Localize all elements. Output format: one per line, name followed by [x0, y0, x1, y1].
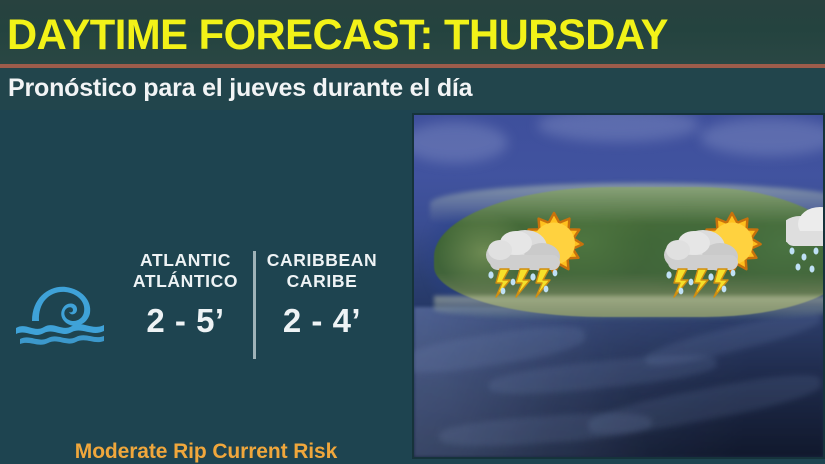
- sun-behind-cloud-thunderstorm-icon: [654, 203, 764, 301]
- marine-column-atlantic: ATLANTIC ATLÁNTICO 2 - 5’: [118, 250, 253, 340]
- page-subtitle: Pronóstico para el jueves durante el día: [8, 74, 472, 103]
- marine-label-es: ATLÁNTICO: [118, 271, 253, 292]
- map-cloud-wisp: [700, 118, 825, 156]
- marine-label-en: ATLANTIC: [118, 250, 253, 271]
- map-canvas: [414, 115, 823, 457]
- marine-conditions-panel: ATLANTIC ATLÁNTICO 2 - 5’ CARIBBEAN CARI…: [0, 110, 412, 464]
- marine-label-es: CARIBE: [256, 271, 388, 292]
- marine-wave-height: 2 - 5’: [118, 302, 253, 340]
- rip-current-risk: Moderate Rip Current Risk Riesgo Moderad…: [0, 440, 412, 464]
- marine-wave-height: 2 - 4’: [256, 302, 388, 340]
- raindrops: [790, 248, 825, 273]
- rip-current-headline-en: Moderate Rip Current Risk: [0, 440, 412, 464]
- page-title: DAYTIME FORECAST: THURSDAY: [7, 11, 668, 60]
- weather-forecast-graphic: DAYTIME FORECAST: THURSDAY Pronóstico pa…: [0, 0, 825, 464]
- wave-icon: [14, 275, 108, 345]
- forecast-map-panel: [412, 113, 825, 459]
- cloud-rain-icon: [786, 191, 825, 277]
- cloud-shape: [786, 207, 825, 246]
- marine-label-en: CARIBBEAN: [256, 250, 388, 271]
- sun-behind-cloud-thunderstorm-icon: [476, 203, 586, 301]
- marine-column-caribbean: CARIBBEAN CARIBE 2 - 4’: [256, 250, 388, 340]
